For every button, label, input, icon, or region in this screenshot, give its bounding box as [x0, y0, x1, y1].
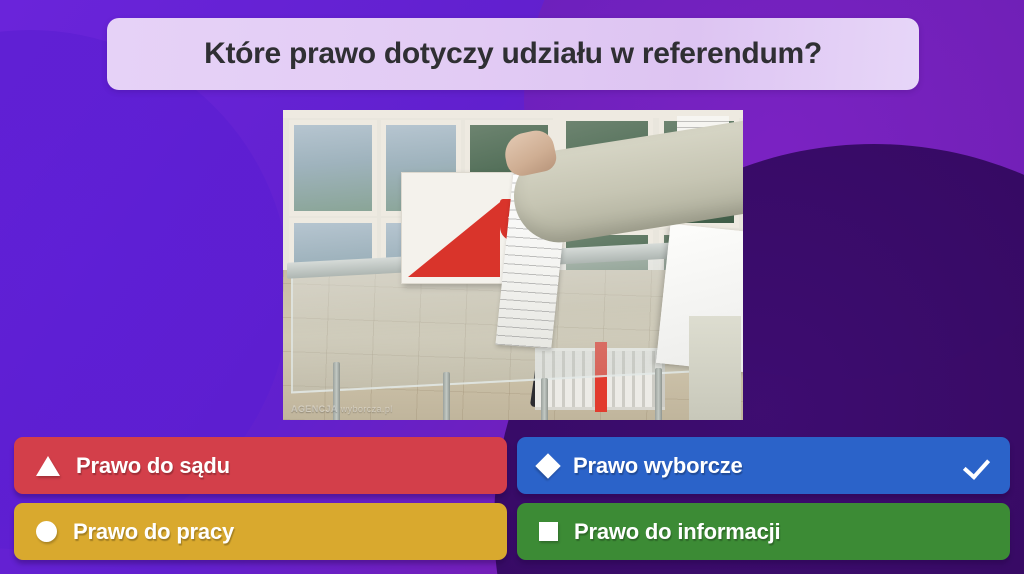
window-frame [283, 110, 743, 118]
square-icon [539, 522, 558, 541]
ballot-box-leg [541, 378, 548, 420]
window-pane [289, 120, 377, 216]
answer-option-2[interactable]: Prawo wyborcze [517, 437, 1010, 494]
circle-icon [36, 521, 57, 542]
answer-label-1: Prawo do sądu [76, 453, 230, 479]
ballot-box-leg [443, 372, 450, 420]
image-watermark: AGENCJA wyborcza.pl [291, 404, 393, 414]
triangle-icon [36, 456, 60, 476]
photo-person-trousers [689, 316, 741, 420]
answer-label-3: Prawo do pracy [73, 519, 234, 545]
answer-label-4: Prawo do informacji [574, 519, 780, 545]
correct-answer-check-icon [964, 452, 992, 480]
polish-flag [408, 181, 500, 277]
answer-option-3[interactable]: Prawo do pracy [14, 503, 507, 560]
answer-option-1[interactable]: Prawo do sądu [14, 437, 507, 494]
ballot-box-leg [655, 368, 662, 420]
watermark-site: wyborcza.pl [341, 404, 393, 414]
answer-label-2: Prawo wyborcze [573, 453, 743, 479]
answer-options: Prawo do sądu Prawo wyborcze Prawo do pr… [14, 437, 1010, 560]
question-image: AGENCJA wyborcza.pl [283, 110, 743, 420]
polling-station-photo: AGENCJA wyborcza.pl [283, 110, 743, 420]
question-banner: Które prawo dotyczy udziału w referendum… [107, 18, 919, 90]
question-text: Które prawo dotyczy udziału w referendum… [204, 37, 822, 71]
answer-option-4[interactable]: Prawo do informacji [517, 503, 1010, 560]
watermark-brand: AGENCJA [291, 404, 338, 414]
diamond-icon [535, 453, 560, 478]
